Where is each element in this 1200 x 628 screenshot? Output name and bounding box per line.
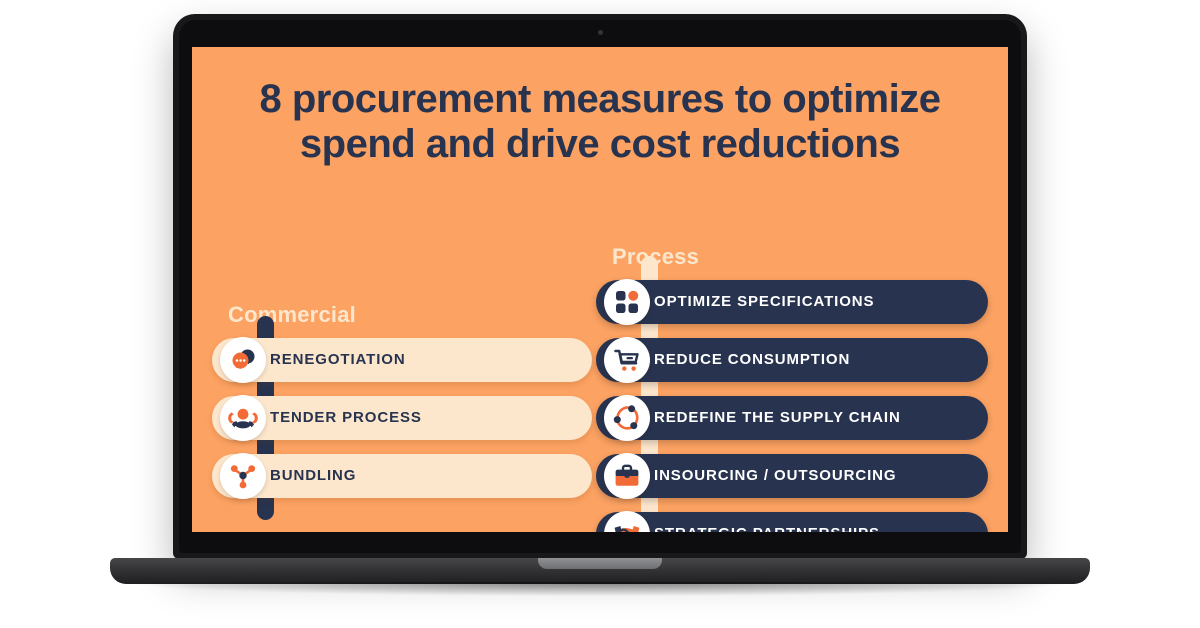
measure-label: RENEGOTIATION (270, 351, 406, 368)
column-heading-commercial: Commercial (228, 302, 592, 328)
measure-item-redefine-supply-chain[interactable]: REDEFINE THE SUPPLY CHAIN (596, 396, 988, 440)
measure-label: OPTIMIZE SPECIFICATIONS (654, 293, 874, 310)
measure-item-reduce-consumption[interactable]: REDUCE CONSUMPTION (596, 338, 988, 382)
measure-item-renegotiation[interactable]: RENEGOTIATION (212, 338, 592, 382)
handshake-icon (604, 511, 650, 532)
webcam-icon (598, 30, 603, 35)
page-title: 8 procurement measures to optimize spend… (226, 77, 974, 167)
measure-label: TENDER PROCESS (270, 409, 422, 426)
column-heading-process: Process (612, 244, 988, 270)
column-commercial: Commercial (212, 302, 592, 498)
shopping-cart-icon (604, 337, 650, 383)
four-blocks-icon (604, 279, 650, 325)
laptop-drop-shadow (128, 582, 1072, 596)
laptop-base (118, 558, 1082, 584)
speech-bubbles-icon (220, 337, 266, 383)
screenshot-scene: 8 procurement measures to optimize spend… (0, 0, 1200, 628)
measure-item-tender-process[interactable]: TENDER PROCESS (212, 396, 592, 440)
track-commercial: RENEGOTIATION (212, 338, 592, 498)
measure-label: STRATEGIC PARTNERSHIPS (654, 525, 880, 532)
measure-item-insourcing-outsourcing[interactable]: INSOURCING / OUTSOURCING (596, 454, 988, 498)
laptop-base-notch (538, 558, 662, 569)
measure-label: INSOURCING / OUTSOURCING (654, 467, 896, 484)
network-nodes-icon (220, 453, 266, 499)
track-process: OPTIMIZE SPECIFICATIONS (596, 280, 988, 532)
measures-columns: Commercial (192, 167, 1008, 527)
supply-chain-circle-icon (604, 395, 650, 441)
column-process: Process (596, 244, 988, 532)
laptop-screen: 8 procurement measures to optimize spend… (192, 47, 1008, 532)
measure-label: BUNDLING (270, 467, 356, 484)
briefcase-icon (604, 453, 650, 499)
people-group-icon (220, 395, 266, 441)
measure-item-strategic-partnerships[interactable]: STRATEGIC PARTNERSHIPS (596, 512, 988, 532)
measure-item-bundling[interactable]: BUNDLING (212, 454, 592, 498)
measure-item-optimize-specifications[interactable]: OPTIMIZE SPECIFICATIONS (596, 280, 988, 324)
measure-label: REDUCE CONSUMPTION (654, 351, 850, 368)
measure-label: REDEFINE THE SUPPLY CHAIN (654, 409, 901, 426)
